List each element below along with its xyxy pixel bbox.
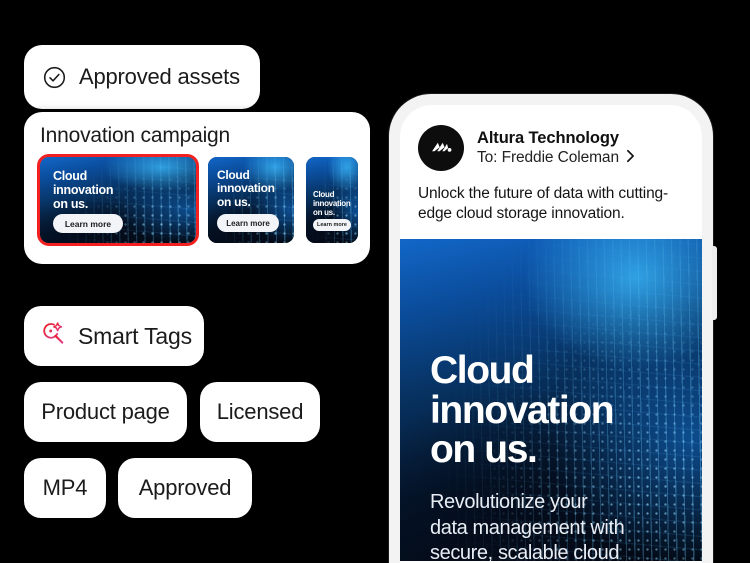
sender-text-block: Altura Technology To: Freddie Coleman <box>477 129 635 168</box>
phone-power-button[interactable] <box>712 246 717 320</box>
tag-label: Licensed <box>217 399 303 425</box>
campaign-thumbnail-16x9[interactable]: Cloud innovation on us. Learn more <box>40 157 196 243</box>
headline-line: on us. <box>217 196 275 209</box>
message-header: Altura Technology To: Freddie Coleman Un… <box>400 105 702 225</box>
campaign-thumbnail-row: Cloud innovation on us. Learn more Cloud… <box>40 157 354 243</box>
smart-tags-chip[interactable]: Smart Tags <box>24 306 204 366</box>
hero-headline-line: Cloud <box>430 351 688 391</box>
check-circle-icon <box>42 65 67 90</box>
tag-approved[interactable]: Approved <box>118 458 252 518</box>
tag-label: Product page <box>41 399 169 425</box>
approved-assets-label: Approved assets <box>79 64 240 90</box>
thumbnail-learn-more-button[interactable]: Learn more <box>53 214 123 233</box>
headline-line: Cloud <box>217 169 275 182</box>
tag-label: Approved <box>139 475 232 501</box>
campaign-thumbnail-1x1[interactable]: Cloud innovation on us. Learn more <box>208 157 294 243</box>
phone-screen: Altura Technology To: Freddie Coleman Un… <box>400 105 702 563</box>
hero-headline: Cloud innovation on us. <box>430 351 688 470</box>
tag-licensed[interactable]: Licensed <box>200 382 320 442</box>
headline-line: innovation <box>217 182 275 195</box>
message-body: Unlock the future of data with cutting-e… <box>418 184 684 225</box>
headline-line: innovation <box>53 183 113 197</box>
thumbnail-headline: Cloud innovation on us. <box>53 169 113 211</box>
chevron-right-icon[interactable] <box>626 149 635 168</box>
smart-tags-label: Smart Tags <box>78 323 192 350</box>
campaign-thumbnail-9x16[interactable]: Cloud innovation on us. Learn more <box>306 157 358 243</box>
thumbnail-learn-more-button[interactable]: Learn more <box>313 219 351 231</box>
thumbnail-headline: Cloud innovation on us. <box>217 169 275 209</box>
hero-copy: Cloud innovation on us. Revolutionize yo… <box>430 351 688 561</box>
approved-assets-chip[interactable]: Approved assets <box>24 45 260 109</box>
headline-line: on us. <box>53 197 113 211</box>
tag-product-page[interactable]: Product page <box>24 382 187 442</box>
tag-mp4[interactable]: MP4 <box>24 458 106 518</box>
phone-mockup: Altura Technology To: Freddie Coleman Un… <box>389 94 713 563</box>
innovation-campaign-card[interactable]: Innovation campaign Cloud innovation on … <box>24 112 370 264</box>
hero-banner: Cloud innovation on us. Revolutionize yo… <box>400 239 702 561</box>
hero-subhead-line: secure, scalable cloud <box>430 541 688 561</box>
hero-subhead-line: data management with <box>430 516 688 542</box>
thumbnail-learn-more-button[interactable]: Learn more <box>217 214 279 232</box>
recipient-row[interactable]: To: Freddie Coleman <box>477 149 635 168</box>
headline-line: Cloud <box>53 169 113 183</box>
thumbnail-headline: Cloud innovation on us. <box>313 191 350 218</box>
tag-label: MP4 <box>43 475 88 501</box>
campaign-title: Innovation campaign <box>40 124 354 148</box>
hero-subhead: Revolutionize your data management with … <box>430 490 688 561</box>
hero-headline-line: on us. <box>430 430 688 470</box>
altura-m-logo-icon <box>418 125 464 171</box>
sender-name: Altura Technology <box>477 129 635 148</box>
hero-headline-line: innovation <box>430 391 688 431</box>
screenshot-root: Approved assets Innovation campaign Clou… <box>0 0 750 563</box>
smart-tags-magic-search-icon <box>40 320 67 352</box>
headline-line: on us. <box>313 209 350 218</box>
message-sender-row[interactable]: Altura Technology To: Freddie Coleman <box>418 125 684 171</box>
hero-subhead-line: Revolutionize your <box>430 490 688 516</box>
recipient-label: To: Freddie Coleman <box>477 149 619 167</box>
